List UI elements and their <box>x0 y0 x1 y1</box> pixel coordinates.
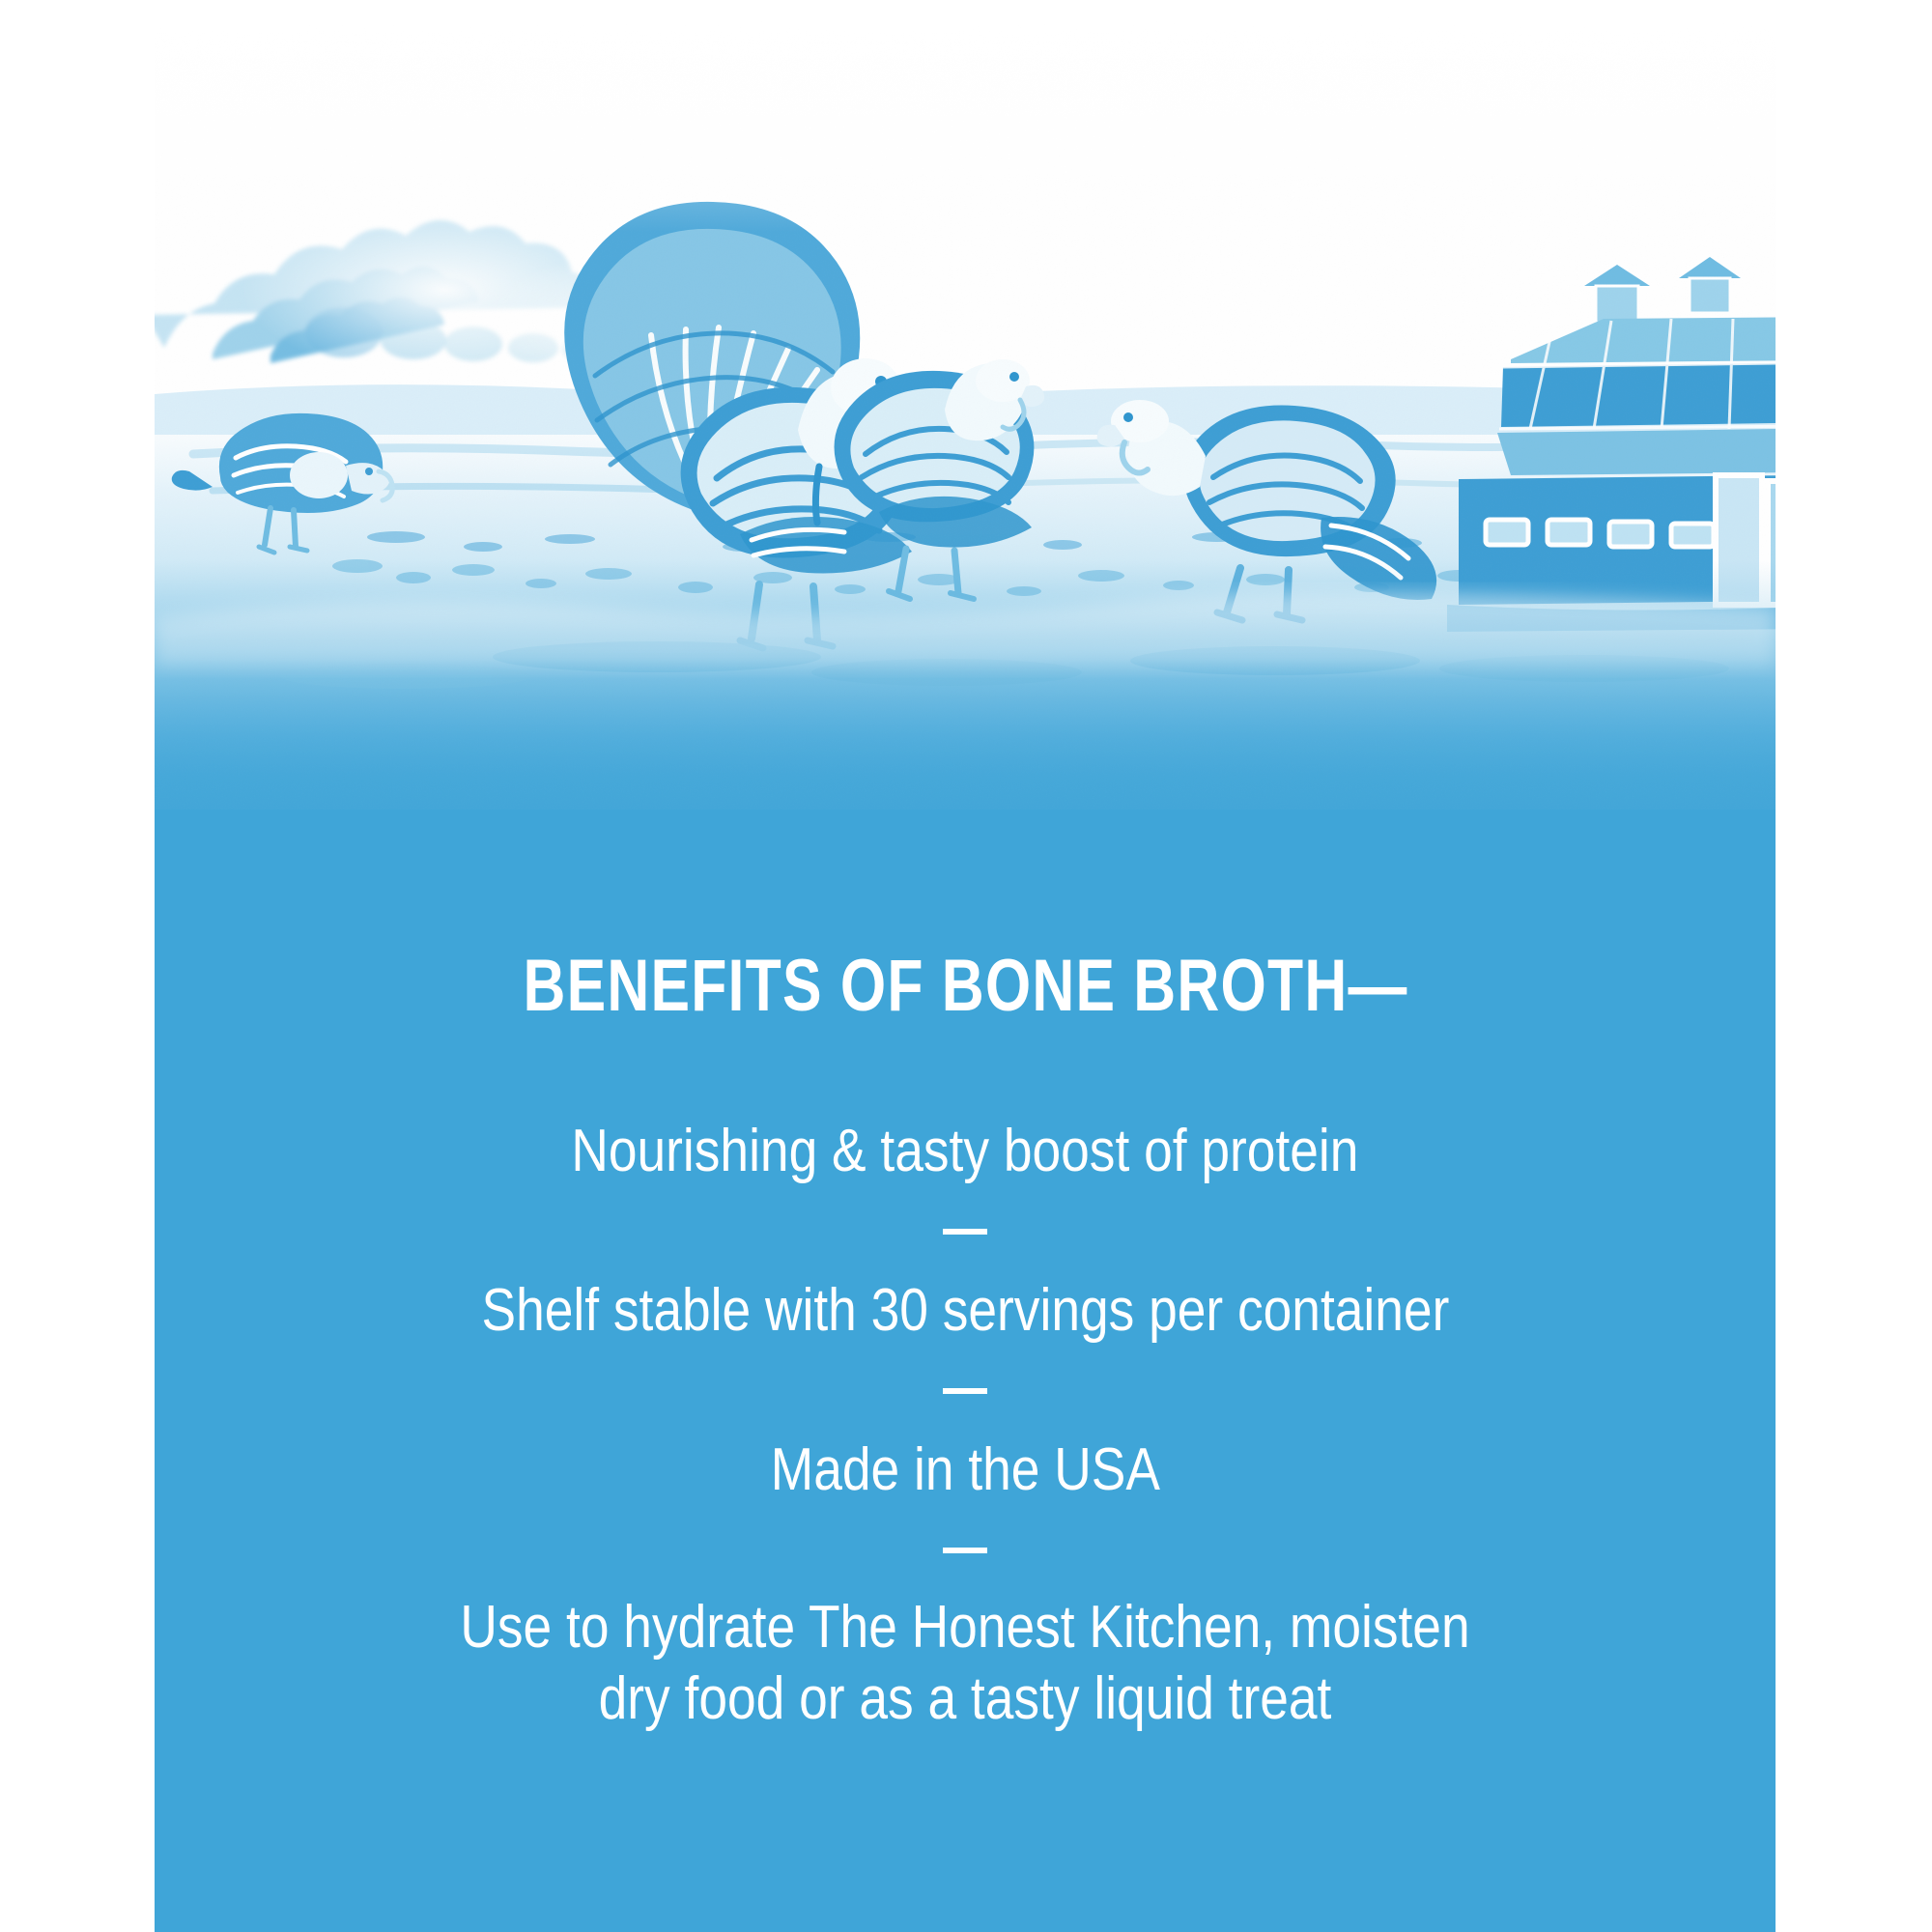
benefit-item-1: Nourishing & tasty boost of protein <box>571 1116 1358 1186</box>
benefits-panel: BENEFITS OF BONE BROTH— Nourishing & tas… <box>155 810 1776 1932</box>
benefits-heading: BENEFITS OF BONE BROTH— <box>523 950 1407 1023</box>
benefit-divider-2 <box>943 1388 987 1394</box>
benefit-item-4: Use to hydrate The Honest Kitchen, moist… <box>450 1592 1480 1733</box>
benefit-divider-3 <box>943 1548 987 1553</box>
turkey-farm-illustration <box>155 0 1776 869</box>
benefit-item-2: Shelf stable with 30 servings per contai… <box>481 1275 1449 1346</box>
benefit-item-3: Made in the USA <box>770 1435 1159 1505</box>
product-benefits-panel-image: BENEFITS OF BONE BROTH— Nourishing & tas… <box>0 0 1932 1932</box>
benefit-divider-1 <box>943 1229 987 1235</box>
